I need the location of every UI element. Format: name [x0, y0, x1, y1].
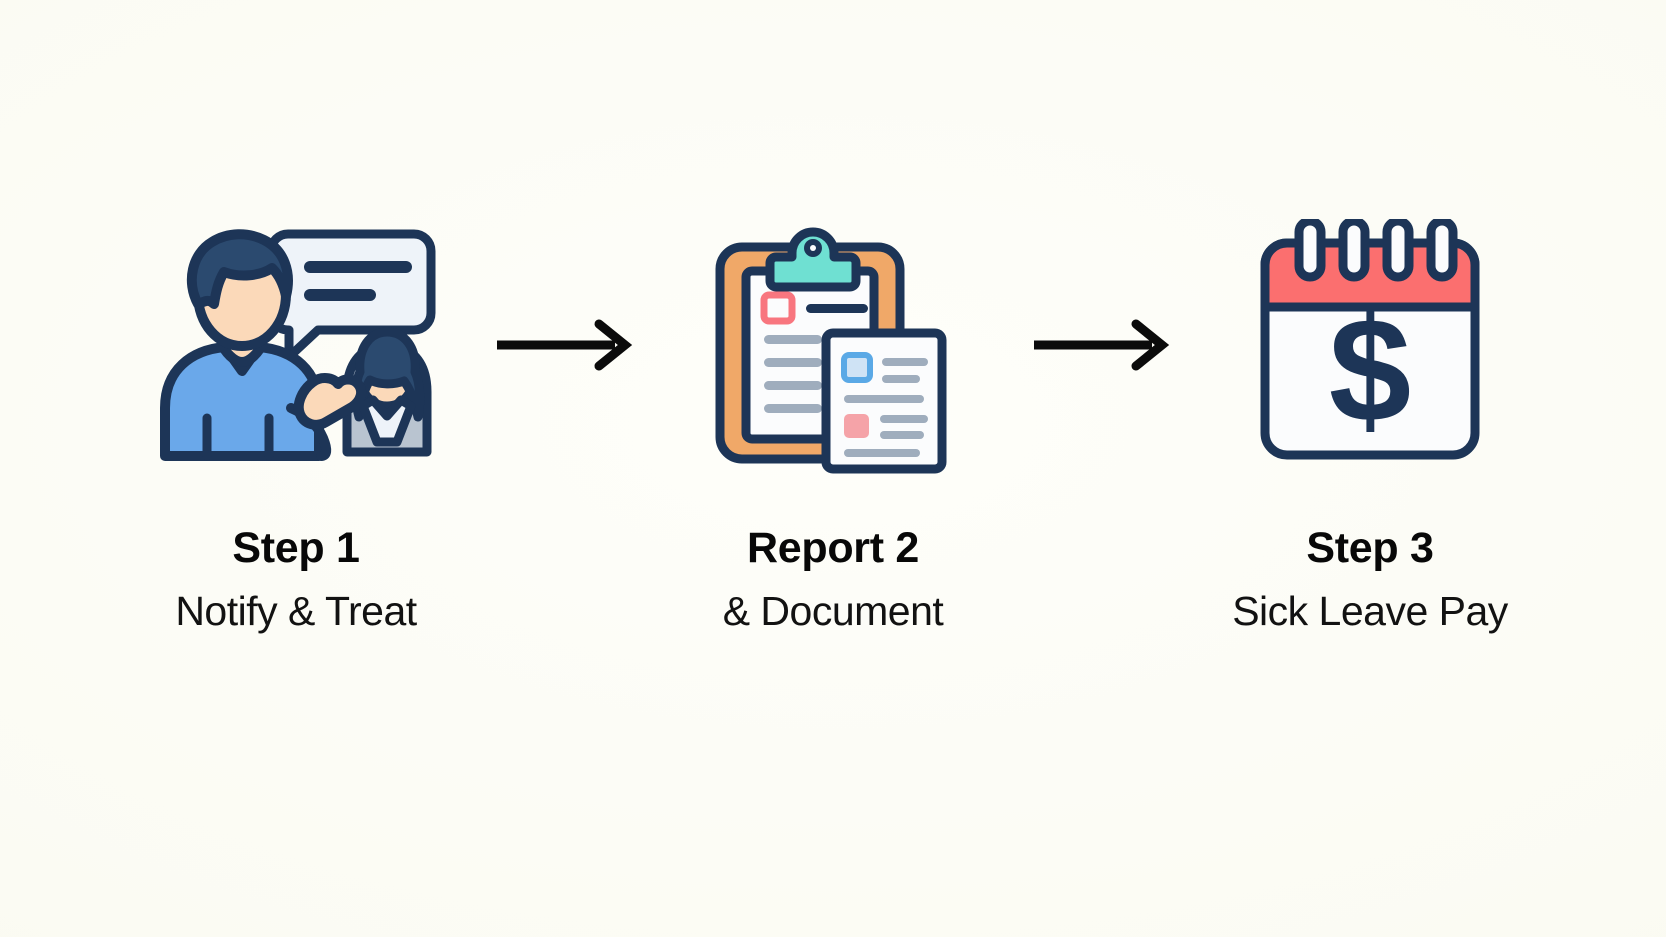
step-1-labels: Step 1 Notify & Treat: [175, 527, 416, 632]
step-subtitle: & Document: [723, 591, 944, 632]
connector-arrow-2: [1014, 215, 1189, 475]
step-title: Step 3: [1232, 527, 1508, 570]
step-subtitle: Sick Leave Pay: [1232, 591, 1508, 632]
process-step-3[interactable]: $ Step 3 Sick Leave Pay: [1189, 215, 1551, 632]
step-subtitle: Notify & Treat: [175, 591, 416, 632]
step-title: Report 2: [723, 527, 944, 570]
arrow-right-icon: [495, 317, 635, 373]
connector-arrow-1: [477, 215, 652, 475]
process-step-2[interactable]: Report 2 & Document: [652, 215, 1014, 632]
svg-text:$: $: [1329, 288, 1411, 453]
step-3-labels: Step 3 Sick Leave Pay: [1232, 527, 1508, 632]
step-title: Step 1: [175, 527, 416, 570]
people-speech-bubble-icon: [146, 215, 446, 475]
process-step-1[interactable]: Step 1 Notify & Treat: [115, 215, 477, 632]
step-2-labels: Report 2 & Document: [723, 527, 944, 632]
arrow-right-icon: [1032, 317, 1172, 373]
process-flow: Step 1 Notify & Treat: [0, 0, 1666, 937]
calendar-dollar-icon: $: [1220, 215, 1520, 475]
infographic-canvas: Step 1 Notify & Treat: [0, 0, 1666, 937]
clipboard-document-icon: [683, 215, 983, 475]
